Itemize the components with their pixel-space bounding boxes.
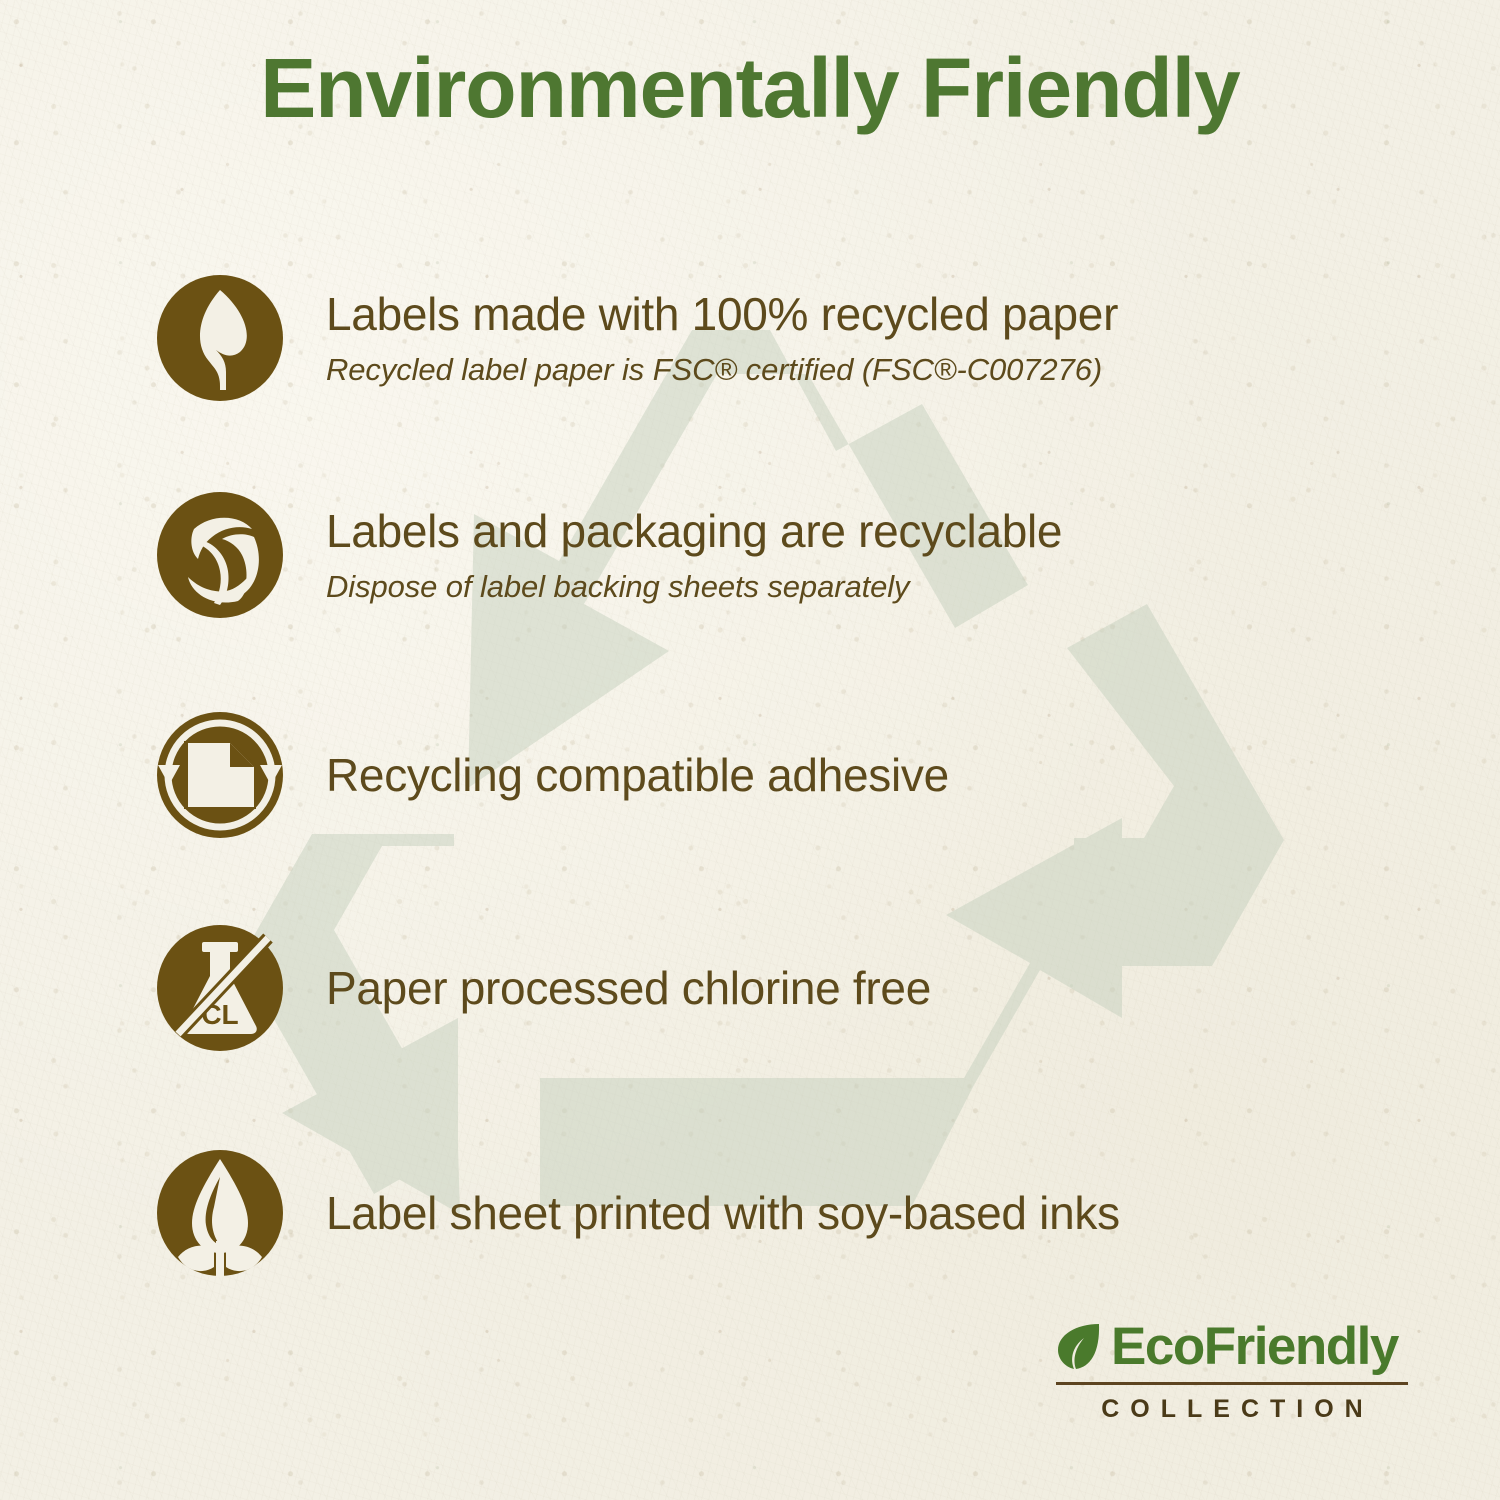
feature-row-recyclable: Labels and packaging are recyclable Disp…: [150, 485, 1380, 625]
eco-friendly-poster: Environmentally Friendly Labels made wit…: [0, 0, 1500, 1500]
page-title: Environmentally Friendly: [0, 44, 1500, 132]
logo-leaf-icon: [1056, 1321, 1102, 1373]
feature-heading: Paper processed chlorine free: [326, 962, 1380, 1014]
ecofriendly-collection-logo: EcoFriendly COLLECTION: [1056, 1320, 1408, 1422]
feature-heading: Label sheet printed with soy-based inks: [326, 1187, 1380, 1239]
feature-heading: Recycling compatible adhesive: [326, 749, 1380, 801]
feature-text: Labels made with 100% recycled paper Rec…: [310, 288, 1380, 388]
feature-subtext: Recycled label paper is FSC® certified (…: [326, 351, 1380, 388]
logo-wordmark: EcoFriendly: [1111, 1320, 1398, 1373]
feature-heading: Labels and packaging are recyclable: [326, 505, 1380, 557]
feature-text: Recycling compatible adhesive: [310, 749, 1380, 801]
feature-text: Label sheet printed with soy-based inks: [310, 1187, 1380, 1239]
logo-divider: [1056, 1382, 1408, 1385]
feature-row-adhesive: Recycling compatible adhesive: [150, 705, 1380, 845]
no-chlorine-flask-icon: CL: [150, 918, 290, 1058]
feature-subtext: Dispose of label backing sheets separate…: [326, 568, 1380, 605]
feature-text: Paper processed chlorine free: [310, 962, 1380, 1014]
feature-row-soy-inks: Label sheet printed with soy-based inks: [150, 1143, 1380, 1283]
feature-row-recycled-paper: Labels made with 100% recycled paper Rec…: [150, 268, 1380, 408]
logo-wordmark-row: EcoFriendly: [1056, 1320, 1408, 1373]
feature-text: Labels and packaging are recyclable Disp…: [310, 505, 1380, 605]
recycling-paper-sheet-icon: [150, 705, 290, 845]
recyclable-leaves-icon: [150, 485, 290, 625]
feature-heading: Labels made with 100% recycled paper: [326, 288, 1380, 340]
logo-subtitle: COLLECTION: [1056, 1397, 1408, 1422]
feature-row-chlorine-free: CL Paper processed chlorine free: [150, 918, 1380, 1058]
leaf-icon: [150, 268, 290, 408]
soy-droplet-plant-icon: [150, 1143, 290, 1283]
